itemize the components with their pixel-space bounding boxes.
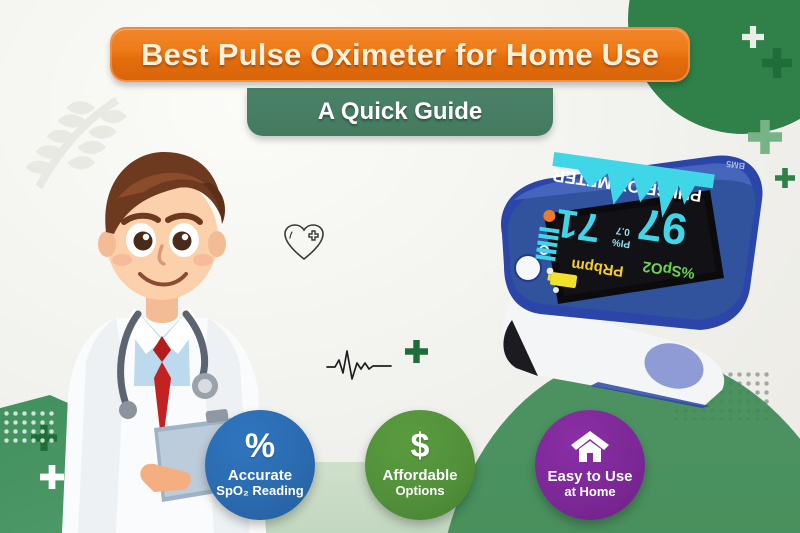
dot-grid-icon	[2, 409, 56, 445]
medical-cross-icon	[405, 340, 428, 363]
page-title: Best Pulse Oximeter for Home Use	[141, 37, 659, 73]
home-icon	[570, 430, 610, 463]
heart-with-cross-icon	[282, 222, 326, 262]
affordable-badge-line1: Affordable	[383, 468, 458, 485]
title-banner: Best Pulse Oximeter for Home Use	[110, 27, 690, 82]
subtitle-banner: A Quick Guide	[247, 88, 553, 136]
accurate-badge-line1: Accurate	[228, 468, 292, 485]
easy-to-use-badge-line2: at Home	[564, 485, 615, 500]
pulse-oximeter-device: PULSE OXIMETER BM5 %SpO2 97 PRbpm 71 PI%…	[478, 138, 778, 408]
subtitle-text: A Quick Guide	[318, 98, 482, 126]
affordable-badge-line2: Options	[395, 484, 444, 499]
poster-canvas: PULSE OXIMETER BM5 %SpO2 97 PRbpm 71 PI%…	[0, 0, 800, 533]
pi-value: 0.7	[615, 224, 631, 237]
affordable-badge[interactable]: $ Affordable Options	[365, 410, 475, 520]
medical-cross-icon	[775, 168, 795, 188]
accurate-badge[interactable]: % Accurate SpO₂ Reading	[205, 410, 315, 520]
easy-to-use-badge-line1: Easy to Use	[547, 469, 632, 486]
ecg-heartbeat-icon	[326, 347, 392, 381]
accurate-badge-line2: SpO₂ Reading	[216, 484, 303, 499]
easy-to-use-badge[interactable]: Easy to Use at Home	[535, 410, 645, 520]
pr-value: 71	[553, 200, 603, 250]
dollar-icon: $	[411, 429, 430, 463]
percent-icon: %	[245, 429, 275, 463]
